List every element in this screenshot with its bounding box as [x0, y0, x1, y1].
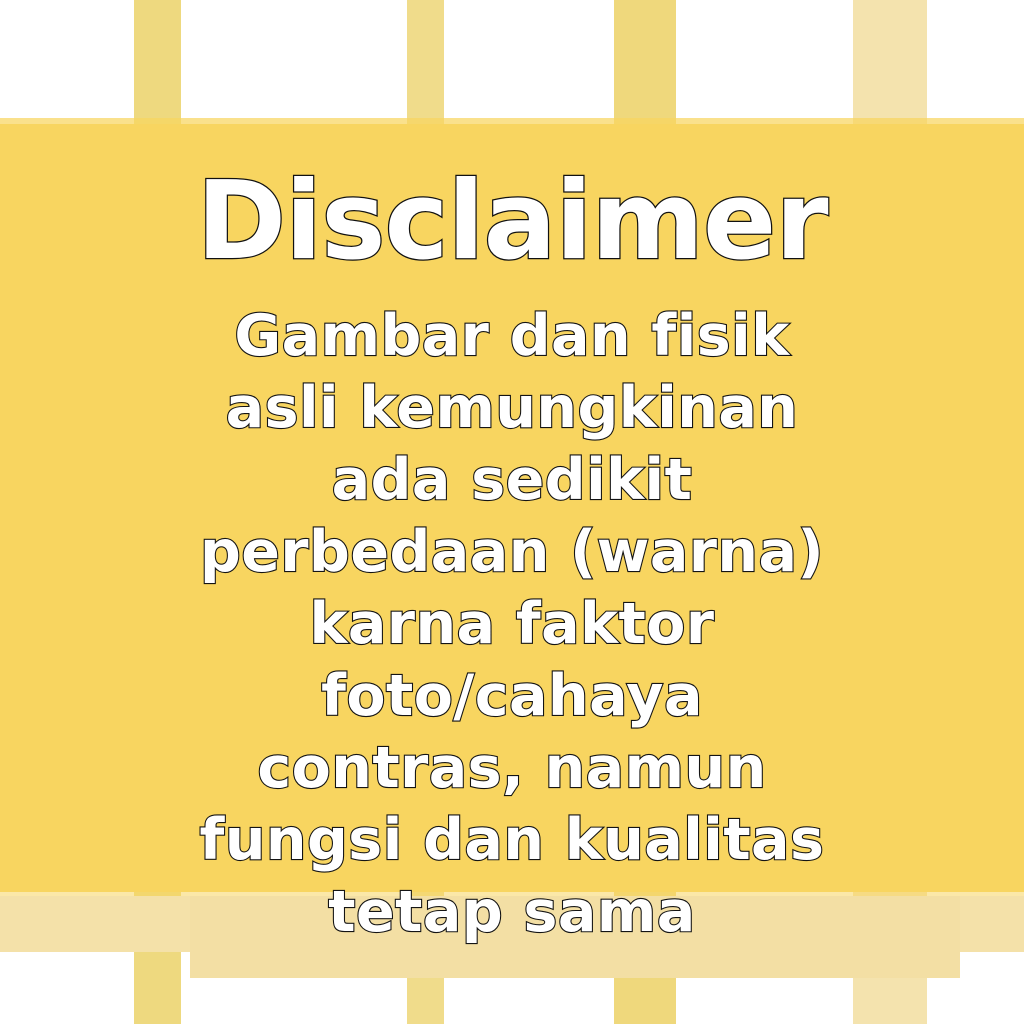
body-line: contras, namun: [0, 732, 1024, 804]
poster-content: Disclaimer Gambar dan fisik asli kemungk…: [0, 124, 1024, 892]
body-line: asli kemungkinan: [0, 372, 1024, 444]
body-line: ada sedikit: [0, 444, 1024, 516]
page-title: Disclaimer: [197, 168, 828, 276]
body-line: Gambar dan fisik: [0, 300, 1024, 372]
disclaimer-body: Gambar dan fisik asli kemungkinan ada se…: [0, 300, 1024, 948]
body-line: karna faktor: [0, 588, 1024, 660]
disclaimer-poster: Disclaimer Gambar dan fisik asli kemungk…: [0, 0, 1024, 1024]
body-line: fungsi dan kualitas: [0, 804, 1024, 876]
body-line: perbedaan (warna): [0, 516, 1024, 588]
body-line: foto/cahaya: [0, 660, 1024, 732]
body-line: tetap sama: [0, 876, 1024, 948]
